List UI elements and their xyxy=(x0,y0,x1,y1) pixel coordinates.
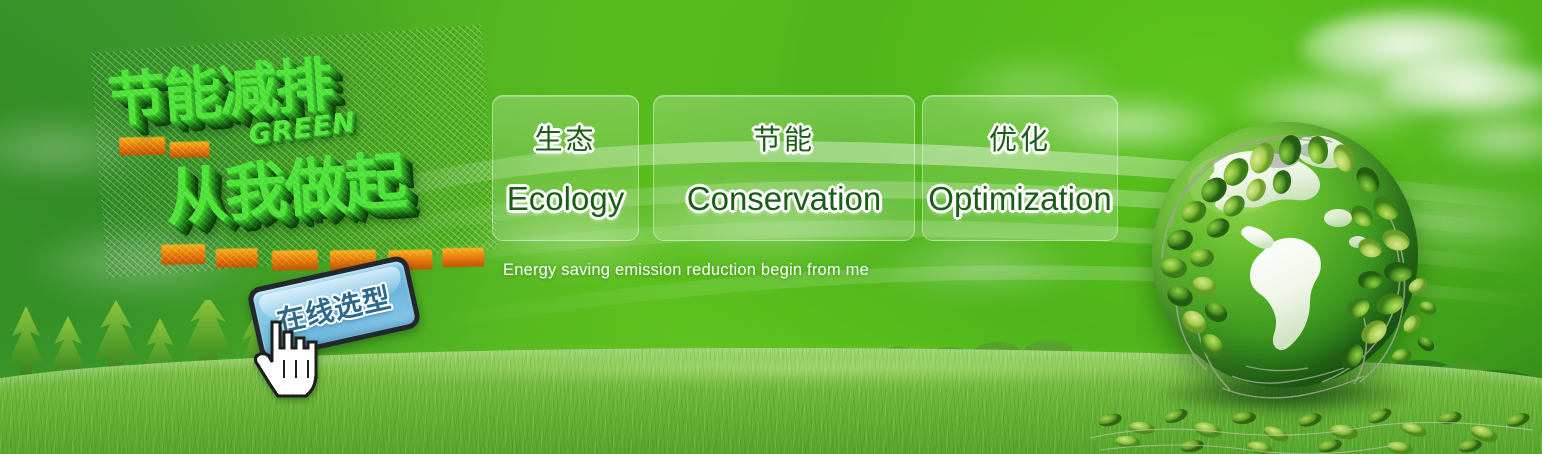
feature-card-cn-label: 优化 xyxy=(989,118,1051,158)
feature-card-cn-label: 生态 xyxy=(534,118,596,158)
feature-card-en-label: Ecology xyxy=(507,180,624,218)
earth-globe xyxy=(1130,108,1440,428)
feature-card-conservation[interactable]: 节能 Conservation xyxy=(653,95,915,241)
feature-card-optimization[interactable]: 优化 Optimization xyxy=(922,95,1118,241)
globe-ivy-leaves-icon xyxy=(1136,108,1436,408)
headline-line-2: 从我做起 xyxy=(161,130,407,237)
feature-card-en-label: Optimization xyxy=(928,180,1111,218)
banner-root: 节能减排 GREEN 从我做起 生态 Ecology 节能 Conservati… xyxy=(0,0,1542,454)
feature-card-cn-label: 节能 xyxy=(753,118,815,158)
feature-card-en-label: Conservation xyxy=(687,180,881,218)
feature-card-ecology[interactable]: 生态 Ecology xyxy=(492,95,639,241)
headline-3d-text: 节能减排 GREEN 从我做起 xyxy=(90,24,497,278)
subtitle-text: Energy saving emission reduction begin f… xyxy=(503,261,869,280)
